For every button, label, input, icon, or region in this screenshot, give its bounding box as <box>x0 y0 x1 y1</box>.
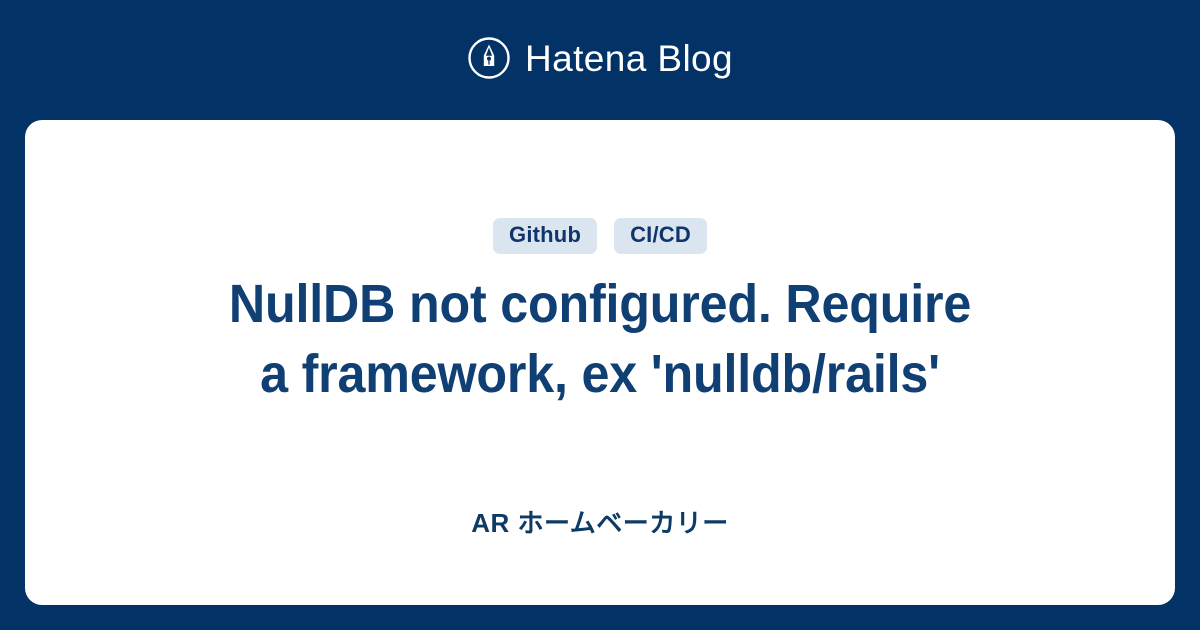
brand-name: Hatena Blog <box>525 40 733 77</box>
entry-title-line-2: a framework, ex 'nulldb/rails' <box>260 344 940 404</box>
blog-name[interactable]: AR ホームベーカリー <box>471 508 729 538</box>
entry-card: Github CI/CD NullDB not configured. Requ… <box>25 120 1175 605</box>
blog-footer: AR ホームベーカリー <box>25 510 1175 537</box>
brand-header: Hatena Blog <box>0 0 1200 120</box>
tag-chip-github[interactable]: Github <box>493 218 597 254</box>
entry-title: NullDB not configured. Require a framewo… <box>229 269 971 409</box>
tag-chip-cicd[interactable]: CI/CD <box>614 218 707 254</box>
hatena-pen-nib-icon <box>467 36 511 80</box>
tag-list: Github CI/CD <box>493 217 707 255</box>
entry-title-line-1: NullDB not configured. Require <box>229 274 971 334</box>
